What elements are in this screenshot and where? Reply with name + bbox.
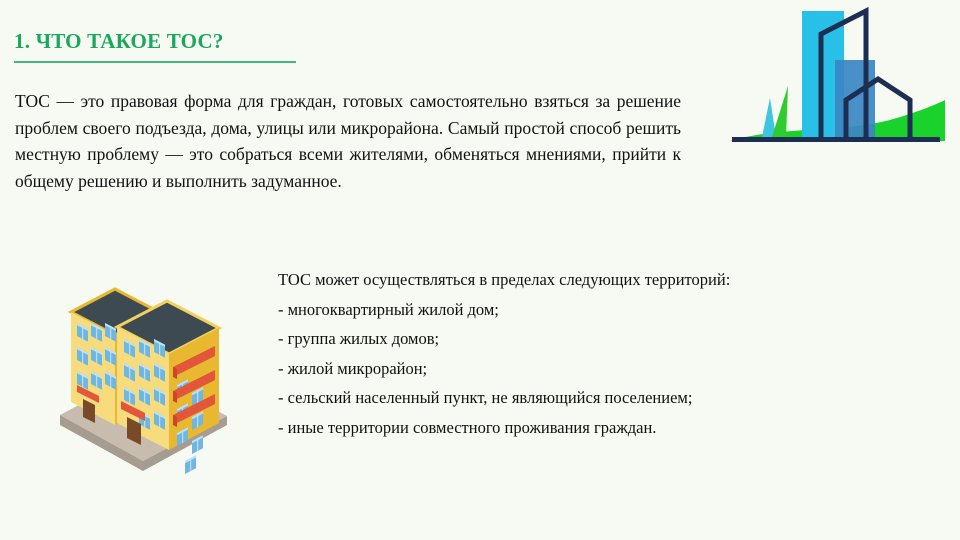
list-item: - иные территории совместного проживания… <box>278 413 838 443</box>
list-item: - группа жилых домов; <box>278 324 838 354</box>
ground-line-shape <box>732 137 940 142</box>
balcony-side-shape <box>173 391 177 403</box>
territories-lead: ТОС может осуществляться в пределах след… <box>278 265 838 295</box>
balcony-side-shape <box>173 415 177 427</box>
balcony-side-shape <box>173 367 177 379</box>
list-item: - многоквартирный жилой дом; <box>278 295 838 325</box>
intro-paragraph: ТОС — это правовая форма для граждан, го… <box>15 88 681 194</box>
list-item: - сельский населенный пункт, не являющий… <box>278 383 838 413</box>
page-title: 1. ЧТО ТАКОЕ ТОС? <box>14 29 224 54</box>
territories-list: - многоквартирный жилой дом; - группа жи… <box>278 295 838 443</box>
intro-paragraph-block: ТОС — это правовая форма для граждан, го… <box>15 88 681 194</box>
slide-root: 1. ЧТО ТАКОЕ ТОС? ТОС — это правовая фор… <box>0 0 960 540</box>
windows-group-left <box>77 323 116 390</box>
tree-green-shape <box>772 86 788 137</box>
title-underline-rule <box>14 61 296 63</box>
territories-block: ТОС может осуществляться в пределах след… <box>278 265 838 442</box>
list-item: - жилой микрорайон; <box>278 354 838 384</box>
city-buildings-logo-icon <box>700 0 960 160</box>
isometric-apartment-building-icon <box>55 275 240 475</box>
tower-blue-shape <box>835 60 875 141</box>
